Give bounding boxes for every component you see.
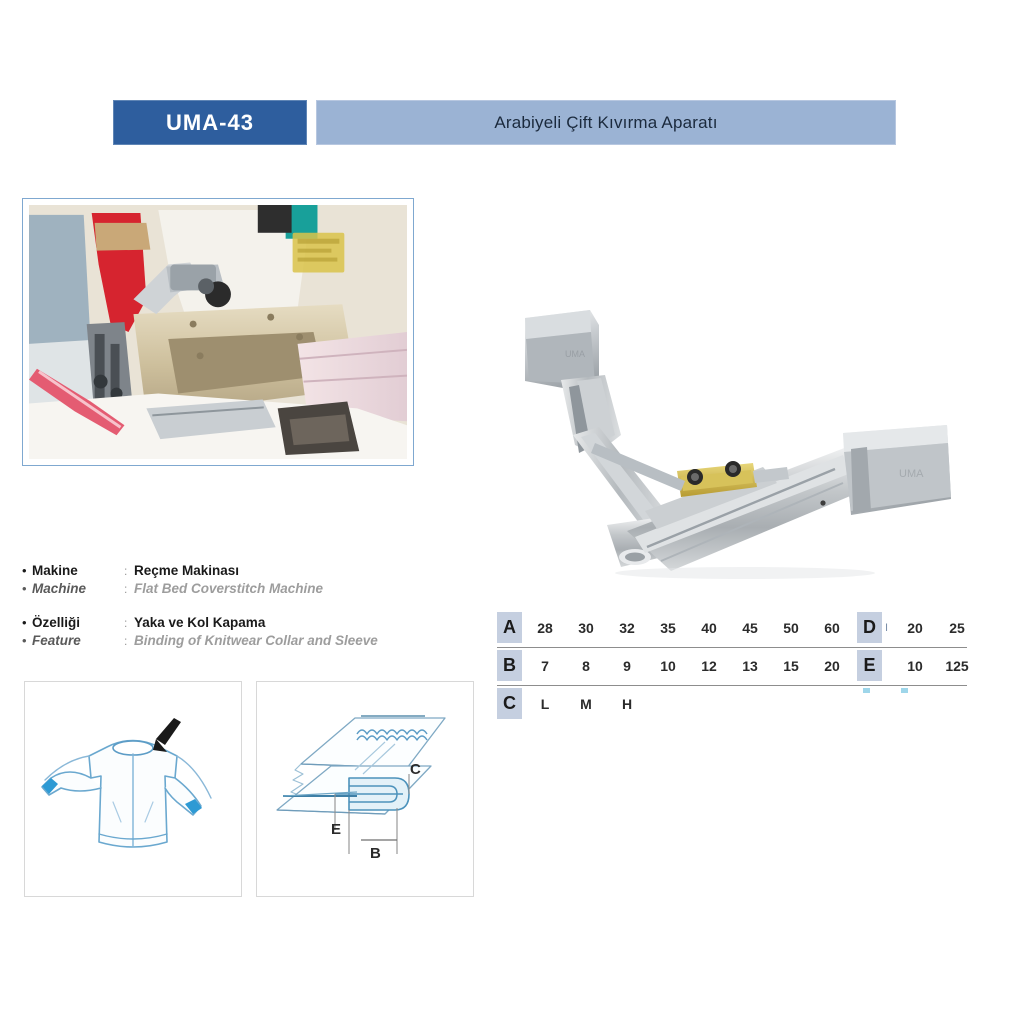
cell-a-0: 28 (525, 612, 565, 643)
svg-text:UMA: UMA (565, 349, 585, 359)
stitch-label-e: E (331, 821, 341, 838)
spec-row-feature-tr: • Özelliği : Yaka ve Kol Kapama (22, 614, 452, 632)
spec-label-feature-en: Feature (32, 632, 124, 650)
cell-a-2: 32 (607, 612, 647, 643)
cell-a-7: 60 (812, 612, 852, 643)
product-code-badge: UMA-43 (113, 100, 307, 145)
cell-a-4: 40 (689, 612, 729, 643)
cell-b-4: 12 (689, 650, 729, 681)
application-photo-frame (22, 198, 414, 466)
jacket-collar-illustration (25, 682, 241, 896)
cell-b-6: 15 (771, 650, 811, 681)
product-header-bar: UMA-43 Arabiyeli Çift Kıvırma Aparatı (113, 100, 896, 145)
row-label-d: D (857, 612, 882, 643)
cell-b-1: 8 (566, 650, 606, 681)
application-photo (29, 205, 407, 459)
spec-value-machine-en: Flat Bed Coverstitch Machine (134, 580, 323, 598)
row-label-c: C (497, 688, 522, 719)
table-row: C L M H (497, 686, 967, 724)
spec-colon: : (124, 614, 134, 632)
stitch-diagram-box: C E B (256, 681, 474, 897)
cell-e-0: 10 (895, 650, 935, 681)
cell-a-1: 30 (566, 612, 606, 643)
spec-row-machine-tr: • Makine : Reçme Makinası (22, 562, 452, 580)
spec-label-feature-tr: Özelliği (32, 614, 124, 632)
cell-c-2: H (607, 688, 647, 719)
bullet-icon: • (22, 614, 32, 632)
cell-a-3: 35 (648, 612, 688, 643)
spec-row-feature-en: • Feature : Binding of Knitwear Collar a… (22, 632, 452, 650)
spec-label-machine-tr: Makine (32, 562, 124, 580)
cell-c-0: L (525, 688, 565, 719)
specifications-block: • Makine : Reçme Makinası • Machine : Fl… (22, 562, 452, 666)
garment-diagram-box (24, 681, 242, 897)
spec-group-feature: • Özelliği : Yaka ve Kol Kapama • Featur… (22, 614, 452, 650)
table-row: A 28 30 32 35 40 45 50 60 D I 20 25 (497, 610, 967, 648)
cell-b-0: 7 (525, 650, 565, 681)
cell-c-1: M (566, 688, 606, 719)
table-row: B 7 8 9 10 12 13 15 20 E 10 125 (497, 648, 967, 686)
stitch-label-c: C (410, 761, 421, 778)
text-cursor-artifact: I (885, 622, 890, 634)
spec-group-machine: • Makine : Reçme Makinası • Machine : Fl… (22, 562, 452, 598)
product-photo: UMA UMA (495, 285, 975, 580)
spec-label-machine-en: Machine (32, 580, 124, 598)
binding-cross-section-illustration: C E B (257, 682, 473, 896)
cell-b-3: 10 (648, 650, 688, 681)
bullet-icon: • (22, 562, 32, 580)
stitch-label-b: B (370, 845, 381, 862)
row-label-a: A (497, 612, 522, 643)
bullet-icon: • (22, 632, 32, 650)
dimension-table: A 28 30 32 35 40 45 50 60 D I 20 25 B 7 … (497, 610, 967, 724)
spec-value-machine-tr: Reçme Makinası (134, 562, 239, 580)
row-label-b: B (497, 650, 522, 681)
cell-b-2: 9 (607, 650, 647, 681)
cell-d-1: 25 (937, 612, 977, 643)
pointer-arrow-icon (153, 718, 181, 752)
spec-colon: : (124, 632, 134, 650)
spec-row-machine-en: • Machine : Flat Bed Coverstitch Machine (22, 580, 452, 598)
cell-d-0: 20 (895, 612, 935, 643)
bullet-icon: • (22, 580, 32, 598)
spec-value-feature-tr: Yaka ve Kol Kapama (134, 614, 265, 632)
row-label-e: E (857, 650, 882, 681)
spec-value-feature-en: Binding of Knitwear Collar and Sleeve (134, 632, 378, 650)
spec-colon: : (124, 580, 134, 598)
spec-colon: : (124, 562, 134, 580)
cell-a-6: 50 (771, 612, 811, 643)
svg-text:UMA: UMA (899, 468, 924, 480)
cell-b-7: 20 (812, 650, 852, 681)
cell-b-5: 13 (730, 650, 770, 681)
cell-e-1: 125 (937, 650, 977, 681)
product-title: Arabiyeli Çift Kıvırma Aparatı (316, 100, 896, 145)
cell-a-5: 45 (730, 612, 770, 643)
